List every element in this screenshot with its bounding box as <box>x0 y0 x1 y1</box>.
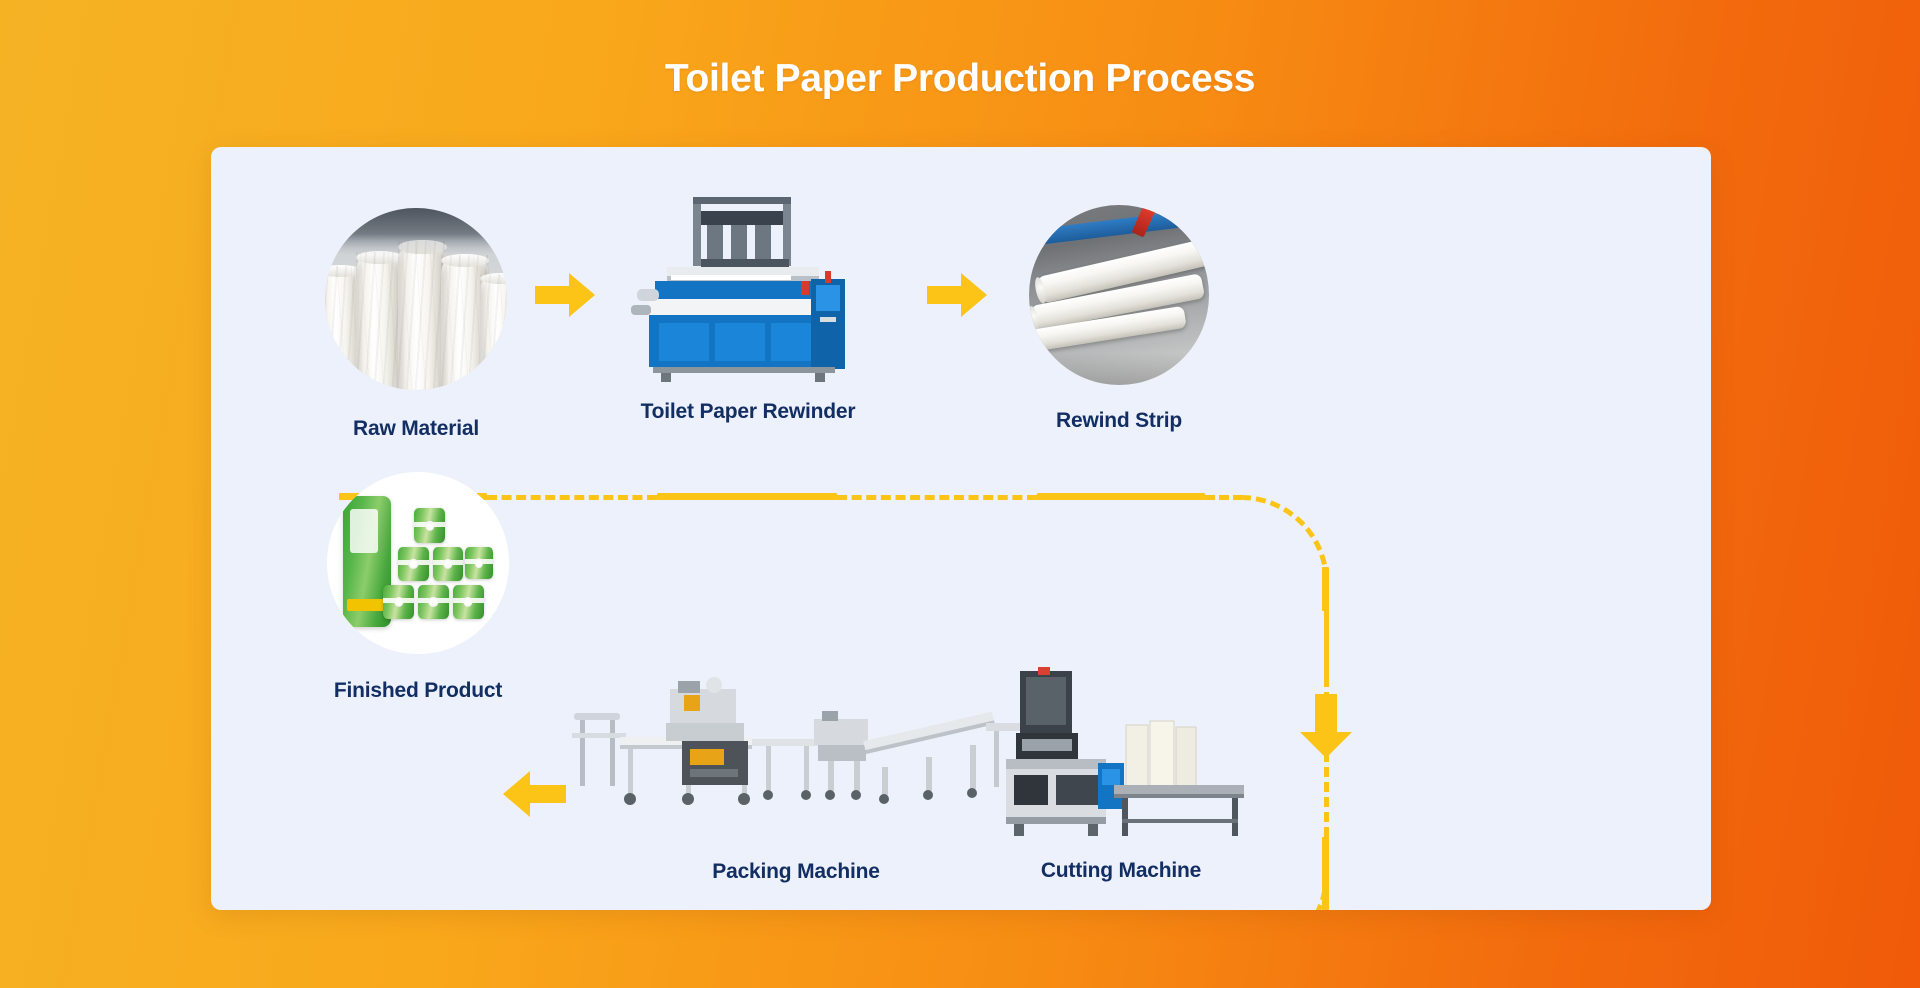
rail-dash-strip-to-corner <box>1205 495 1243 500</box>
step-finished-product[interactable]: Finished Product <box>327 472 509 762</box>
page-title: Toilet Paper Production Process <box>0 57 1920 101</box>
step-raw-material[interactable]: Raw Material <box>325 208 507 498</box>
finished-product-photo <box>327 472 509 654</box>
packing-machine-photo <box>566 675 1026 840</box>
rewind-strip-photo <box>1029 205 1209 385</box>
step-label-packing-machine: Packing Machine <box>651 860 941 884</box>
step-label-rewind-strip: Rewind Strip <box>1017 409 1221 433</box>
process-diagram-card: Raw Material <box>211 147 1711 910</box>
step-cutting-machine[interactable]: Cutting Machine <box>986 667 1256 910</box>
raw-material-thumbnail <box>325 208 507 390</box>
step-toilet-paper-rewinder[interactable]: Toilet Paper Rewinder <box>615 193 880 498</box>
finished-product-thumbnail <box>327 472 509 654</box>
step-packing-machine[interactable]: Packing Machine <box>566 675 1026 910</box>
rail-corner-top-right <box>1239 495 1329 585</box>
step-label-finished-product: Finished Product <box>303 679 533 703</box>
step-label-toilet-paper-rewinder: Toilet Paper Rewinder <box>589 400 907 424</box>
step-label-raw-material: Raw Material <box>305 417 527 441</box>
raw-material-photo <box>325 208 507 390</box>
cutting-machine-photo <box>986 667 1256 842</box>
arrow-left-icon <box>500 766 568 822</box>
arrow-right-icon-2 <box>925 268 989 322</box>
toilet-paper-rewinder-photo <box>615 193 880 393</box>
step-rewind-strip[interactable]: Rewind Strip <box>1029 205 1209 495</box>
arrow-down-icon <box>1296 692 1356 760</box>
rail-vert-solid-upper <box>1322 567 1329 611</box>
arrow-right-icon-1 <box>533 268 597 322</box>
rewind-strip-thumbnail <box>1029 205 1209 385</box>
